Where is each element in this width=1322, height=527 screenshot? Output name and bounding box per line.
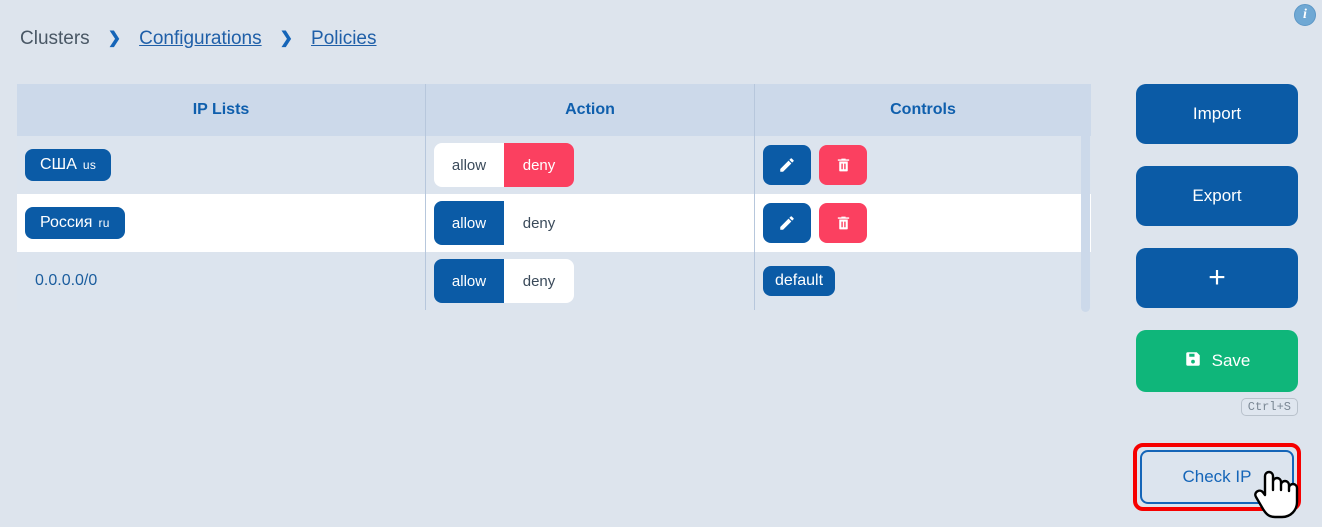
trash-icon [835, 156, 852, 174]
pencil-icon [778, 156, 796, 174]
action-allow-option[interactable]: allow [434, 259, 504, 303]
country-code-label: ru [98, 216, 109, 230]
save-shortcut-hint: Ctrl+S [1136, 398, 1298, 416]
cell-controls [755, 194, 1092, 252]
action-allow-option[interactable]: allow [434, 143, 504, 187]
table-vertical-scrollbar[interactable] [1081, 84, 1090, 312]
export-button[interactable]: Export [1136, 166, 1298, 226]
action-rail: Import Export + Save Ctrl+S [1136, 84, 1298, 416]
ip-list-badge[interactable]: США us [25, 149, 111, 181]
table-row: США us allow deny [17, 136, 1091, 194]
trash-icon [835, 214, 852, 232]
ip-list-label: США [40, 156, 77, 174]
cell-action: allow deny [426, 136, 755, 194]
action-deny-option[interactable]: deny [504, 143, 574, 187]
policies-table: IP Lists Action Controls США us allow de… [17, 84, 1091, 310]
cell-ip-list: Россия ru [17, 194, 426, 252]
ip-list-badge[interactable]: Россия ru [25, 207, 125, 239]
info-circle-icon[interactable]: i [1294, 4, 1316, 26]
column-header-ip-lists: IP Lists [17, 84, 426, 136]
floppy-disk-icon [1184, 350, 1202, 373]
action-toggle[interactable]: allow deny [434, 201, 574, 245]
action-deny-option[interactable]: deny [504, 201, 574, 245]
country-code-label: us [83, 158, 96, 172]
default-badge: default [763, 266, 835, 296]
delete-button[interactable] [819, 145, 867, 185]
import-button[interactable]: Import [1136, 84, 1298, 144]
keyboard-shortcut-badge: Ctrl+S [1241, 398, 1298, 416]
ip-list-label: 0.0.0.0/0 [25, 272, 97, 289]
controls-group [755, 203, 1091, 243]
action-deny-option[interactable]: deny [504, 259, 574, 303]
breadcrumb-separator-icon: ❯ [108, 31, 121, 47]
breadcrumb: Clusters ❯ Configurations ❯ Policies [18, 28, 379, 50]
column-header-controls: Controls [755, 84, 1092, 136]
ip-list-label: Россия [40, 214, 92, 232]
table-row: Россия ru allow deny [17, 194, 1091, 252]
pencil-icon [778, 214, 796, 232]
breadcrumb-separator-icon: ❯ [280, 31, 293, 47]
breadcrumb-item-configurations[interactable]: Configurations [137, 28, 264, 50]
save-button-label: Save [1212, 351, 1251, 371]
policies-table-container: IP Lists Action Controls США us allow de… [17, 84, 1089, 310]
cell-ip-list: США us [17, 136, 426, 194]
table-header-row: IP Lists Action Controls [17, 84, 1091, 136]
check-ip-button[interactable]: Check IP [1140, 450, 1294, 504]
cell-action: allow deny [426, 252, 755, 310]
action-toggle[interactable]: allow deny [434, 143, 574, 187]
check-ip-container: Check IP [1133, 443, 1301, 511]
breadcrumb-item-clusters[interactable]: Clusters [18, 28, 92, 50]
table-row: 0.0.0.0/0 allow deny default [17, 252, 1091, 310]
cell-action: allow deny [426, 194, 755, 252]
cell-controls: default [755, 252, 1092, 310]
edit-button[interactable] [763, 203, 811, 243]
save-button[interactable]: Save [1136, 330, 1298, 392]
action-toggle[interactable]: allow deny [434, 259, 574, 303]
column-header-action: Action [426, 84, 755, 136]
edit-button[interactable] [763, 145, 811, 185]
add-button[interactable]: + [1136, 248, 1298, 308]
cell-controls [755, 136, 1092, 194]
action-allow-option[interactable]: allow [434, 201, 504, 245]
controls-group [755, 145, 1091, 185]
cell-ip-list: 0.0.0.0/0 [17, 252, 426, 310]
delete-button[interactable] [819, 203, 867, 243]
breadcrumb-item-policies[interactable]: Policies [309, 28, 378, 50]
